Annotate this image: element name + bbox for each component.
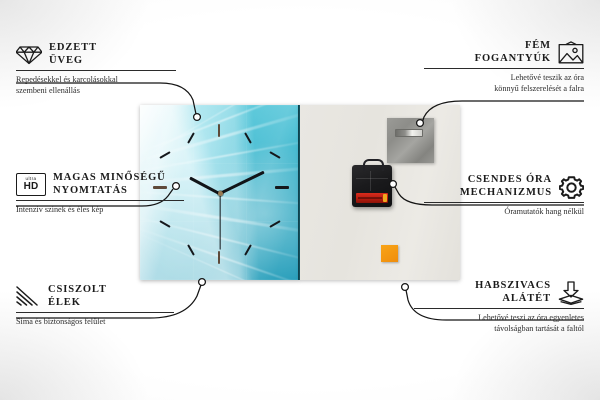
callout-description-line1: Sima és biztonságos felület [16,317,174,328]
callout-tempered-glass[interactable]: EDZETT ÜVEG Repedésekkel és karcolásokka… [16,42,176,96]
callout-description-line1: Lehetővé teszik az óra [424,73,584,84]
mechanism-seam [356,178,388,179]
callout-divider [424,202,584,203]
callout-divider [16,312,174,313]
callout-divider [16,70,176,71]
callout-title-line2: MECHANIZMUS [460,187,552,200]
callout-title-line2: FOGANTYÚK [475,53,551,66]
callout-description-line2: szembeni ellenállás [16,86,176,97]
battery-positive-cap [383,194,387,202]
clock-second-hand [219,193,220,250]
callout-polished-edges[interactable]: CSISZOLT ÉLEK Sima és biztonságos felüle… [16,284,174,328]
infographic-canvas: EDZETT ÜVEG Repedésekkel és karcolásokka… [0,0,600,400]
callout-description-line2: távolságban tartását a faltól [414,324,584,335]
gear-icon [559,175,584,199]
quartz-clock-mechanism [352,165,392,207]
product-image [140,105,460,280]
callout-description-line2: könnyű felszerelését a falra [424,84,584,95]
hanger-slot [395,129,423,137]
callout-title-line1: CSISZOLT [48,284,107,297]
clock-tick [218,124,220,137]
callout-title-line2: ÉLEK [48,297,107,310]
ultra-hd-icon-large-text: HD [24,182,39,192]
callout-description-line1: Óramutatók hang nélkül [424,207,584,218]
clock-tick [275,186,289,189]
picture-hanger-icon [558,41,584,64]
callout-title-line1: CSENDES ÓRA [460,174,552,187]
callout-title-line1: EDZETT [49,42,97,55]
callout-description-line1: Intenzív színek és éles kép [16,205,184,216]
callout-title-line2: ALÁTÉT [475,293,551,306]
battery-stripe [358,197,382,199]
foam-spacer-pad [381,245,398,262]
callout-title-line1: HABSZIVACS [475,280,551,293]
mechanism-hanger-loop [363,159,384,171]
aa-battery [356,193,388,203]
callout-metal-handles[interactable]: FÉM FOGANTYÚK Lehetővé teszik az óra kön… [424,40,584,94]
callout-foam-pad[interactable]: HABSZIVACS ALÁTÉT Lehetővé teszi az óra … [414,280,584,334]
callout-title-line1: MAGAS MINŐSÉGŰ [53,172,166,185]
press-down-pad-icon [558,281,584,305]
callout-title-line2: NYOMTATÁS [53,185,166,198]
diamond-icon [16,44,42,65]
callout-divider [16,200,184,201]
callout-title-line2: ÜVEG [49,55,97,68]
clock-center-hub [218,191,223,196]
clock-tick [218,251,220,264]
callout-title-line1: FÉM [475,40,551,53]
callout-divider [424,68,584,69]
ultra-hd-icon: ultra HD [16,173,46,196]
callout-description-line1: Repedésekkel és karcolásokkal [16,75,176,86]
metal-hanger-plate [387,118,434,163]
callout-description-line1: Lehetővé teszi az óra egyenletes [414,313,584,324]
beveled-edge-icon [16,286,41,307]
callout-silent-mechanism[interactable]: CSENDES ÓRA MECHANIZMUS Óramutatók hang … [424,174,584,218]
callout-divider [414,308,584,309]
callout-high-quality-print[interactable]: ultra HD MAGAS MINŐSÉGŰ NYOMTATÁS Intenz… [16,172,184,216]
mechanism-seam [370,171,371,191]
